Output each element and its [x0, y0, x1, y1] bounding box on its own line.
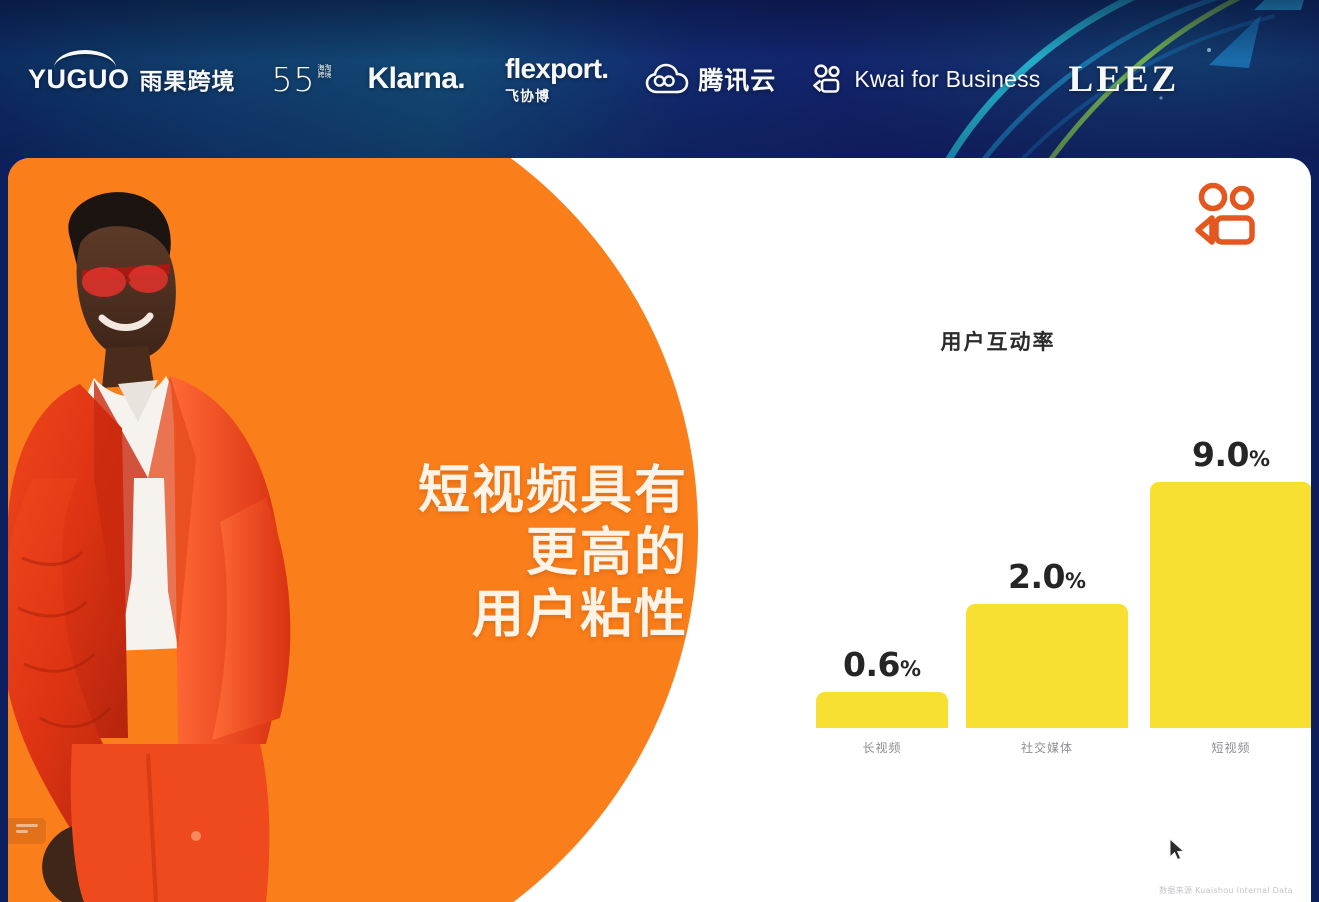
logo-yuguo-en: YUGUO	[28, 64, 130, 95]
chart-plot-area: 0.6% 长视频 2.0% 社交媒体 9.0%	[748, 394, 1278, 764]
tencent-cloud-icon	[644, 62, 690, 96]
logo-row: YUGUO 雨果跨境 55 海淘 跨境 Klarna. flexport. 飞协…	[0, 0, 1319, 158]
bar-group-2: 9.0%	[1150, 435, 1311, 728]
bar-0	[816, 692, 948, 728]
logo-yuguo: YUGUO 雨果跨境	[28, 62, 236, 96]
slide-card: 短视频具有 更高的 用户粘性 用户互动率 0.6% 长视频	[8, 158, 1311, 902]
logo-55-subtext: 海淘 跨境	[318, 65, 332, 79]
bar-value-2: 9.0%	[1192, 435, 1270, 474]
logo-flexport-en: flexport.	[505, 53, 608, 85]
chart-title: 用户互动率	[698, 326, 1298, 356]
logo-flexport-cn: 飞协博	[505, 86, 550, 106]
kwai-camera-icon	[810, 64, 844, 94]
logo-klarna: Klarna.	[368, 62, 466, 96]
logo-flexport: flexport. 飞协博	[505, 53, 608, 106]
slide-screenshot: YUGUO 雨果跨境 55 海淘 跨境 Klarna. flexport. 飞协…	[0, 0, 1319, 902]
logo-55haitao: 55 海淘 跨境	[272, 60, 332, 99]
edge-badge-line-short	[16, 830, 28, 833]
bar-group-1: 2.0%	[966, 557, 1128, 728]
bar-label-0: 长视频	[816, 739, 948, 756]
bar-label-2: 短视频	[1150, 739, 1311, 756]
logo-kwai-text: Kwai for Business	[854, 66, 1040, 93]
headline: 短视频具有 更高的 用户粘性	[278, 460, 688, 646]
engagement-bar-chart: 用户互动率 0.6% 长视频 2.0% 社交媒体	[698, 326, 1298, 766]
logo-55-number: 55	[272, 60, 316, 99]
headline-line-2: 更高的	[278, 522, 688, 584]
edge-badge-line	[16, 824, 38, 827]
bar-2	[1150, 482, 1311, 728]
sponsor-banner: YUGUO 雨果跨境 55 海淘 跨境 Klarna. flexport. 飞协…	[0, 0, 1319, 158]
logo-tencent-cloud: 腾讯云	[644, 61, 776, 97]
headline-line-3: 用户粘性	[278, 584, 688, 646]
bar-value-0: 0.6%	[843, 645, 921, 684]
kwai-camera-logo-icon	[1189, 182, 1263, 246]
logo-yuguo-cn: 雨果跨境	[140, 62, 236, 96]
logo-leez: LEEZ	[1069, 58, 1180, 101]
bar-1	[966, 604, 1128, 728]
bar-value-1: 2.0%	[1008, 557, 1086, 596]
bar-label-1: 社交媒体	[966, 739, 1128, 756]
yuguo-arc-icon	[54, 50, 116, 68]
edge-badge	[8, 818, 46, 844]
chart-source-footnote: 数据来源 Kuaishou Internal Data	[1159, 885, 1293, 896]
logo-kwai-for-business: Kwai for Business	[810, 64, 1040, 94]
logo-tencent-cn: 腾讯云	[698, 61, 776, 97]
headline-line-1: 短视频具有	[278, 460, 688, 522]
bar-group-0: 0.6%	[816, 645, 948, 728]
